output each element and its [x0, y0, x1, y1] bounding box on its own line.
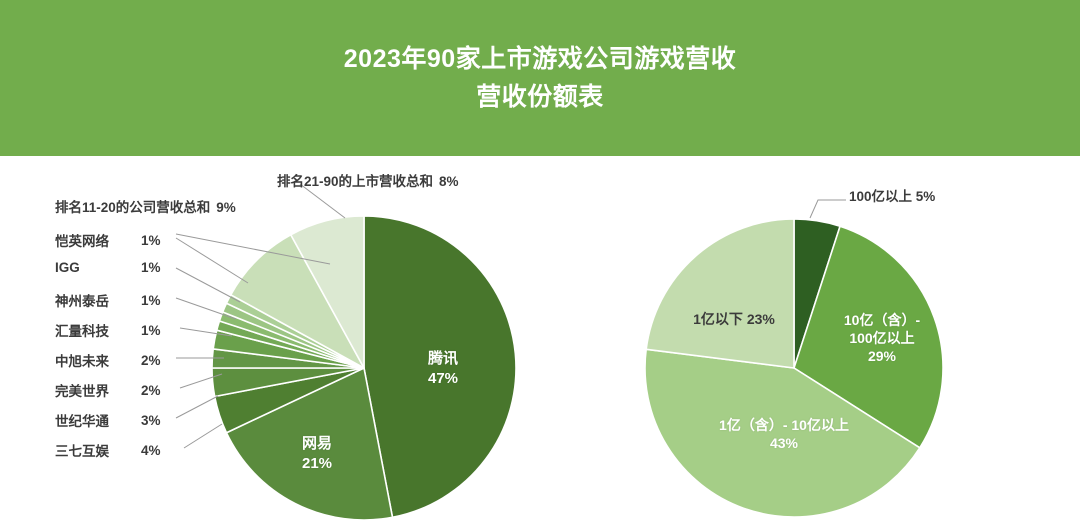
callout-shijihuatong-name: 世纪华通 [55, 410, 141, 430]
callout-huiliang-pct: 1% [141, 323, 175, 338]
charts-area: 腾讯 47%网易 21%三七互娱 4%世纪华通 3%完美世界 2%中旭未来 2%… [0, 156, 1080, 528]
callout-rank11-20: 排名11-20的公司营收总和9% [55, 200, 236, 216]
callout-shenzhoutaiyue-pct: 1% [141, 293, 175, 308]
leader-line-above-10b [810, 200, 846, 218]
header-band: 2023年90家上市游戏公司游戏营收 营收份额表 [0, 0, 1080, 156]
callout-huiliang: 汇量科技 1% [55, 320, 175, 340]
callout-sanqi-name: 三七互娱 [55, 440, 141, 460]
callout-zhongxu-name: 中旭未来 [55, 350, 141, 370]
callout-zhongxu: 中旭未来 2% [55, 350, 175, 370]
page-title: 2023年90家上市游戏公司游戏营收 营收份额表 [0, 40, 1080, 116]
callout-above-10b: 100亿以上 5% [849, 189, 935, 205]
callout-sanqi: 三七互娱 4% [55, 440, 175, 460]
callout-shijihuatong-pct: 3% [141, 413, 175, 428]
callout-huiliang-name: 汇量科技 [55, 320, 141, 340]
callout-shenzhoutaiyue: 神州泰岳 1% [55, 290, 175, 310]
callout-zhongxu-pct: 2% [141, 353, 175, 368]
callout-kaiying-pct: 1% [141, 233, 175, 248]
pie-slice[interactable]: 1亿以下 23% [646, 219, 794, 368]
callout-igg: IGG 1% [55, 260, 175, 275]
callout-rank21-90-name: 排名21-90的上市营收总和 [277, 174, 433, 189]
slice-label-tencent: 腾讯 47% [398, 349, 488, 389]
callout-shenzhoutaiyue-name: 神州泰岳 [55, 290, 141, 310]
slide-canvas: 2023年90家上市游戏公司游戏营收 营收份额表 腾讯 47%网易 21%三七互… [0, 0, 1080, 528]
callout-wanmei-name: 完美世界 [55, 380, 141, 400]
revenue-bracket-share-pie-slices: 100亿以上 5%10亿（含）- 100亿以上 29%1亿（含）- 10亿以上 … [645, 219, 943, 517]
callout-rank21-90-pct: 8% [439, 174, 459, 190]
callout-kaiying: 恺英网络 1% [55, 230, 175, 250]
callout-rank11-20-name: 排名11-20的公司营收总和 [55, 200, 210, 215]
slice-label-netease: 网易 21% [272, 434, 362, 474]
callout-igg-pct: 1% [141, 260, 175, 275]
callout-rank11-20-pct: 9% [216, 200, 236, 216]
callout-igg-name: IGG [55, 260, 141, 275]
callout-shijihuatong: 世纪华通 3% [55, 410, 175, 430]
slice-label-1b-to-10b: 10亿（含）- 100亿以上 29% [822, 311, 942, 365]
slice-label-100m-to-1b: 1亿（含）- 10亿以上 43% [669, 416, 899, 452]
callout-wanmei: 完美世界 2% [55, 380, 175, 400]
callout-wanmei-pct: 2% [141, 383, 175, 398]
callout-rank21-90: 排名21-90的上市营收总和8% [277, 174, 459, 190]
callout-kaiying-name: 恺英网络 [55, 230, 141, 250]
callout-sanqi-pct: 4% [141, 443, 175, 458]
slice-label-below-100m: 1亿以下 23% [649, 310, 819, 328]
